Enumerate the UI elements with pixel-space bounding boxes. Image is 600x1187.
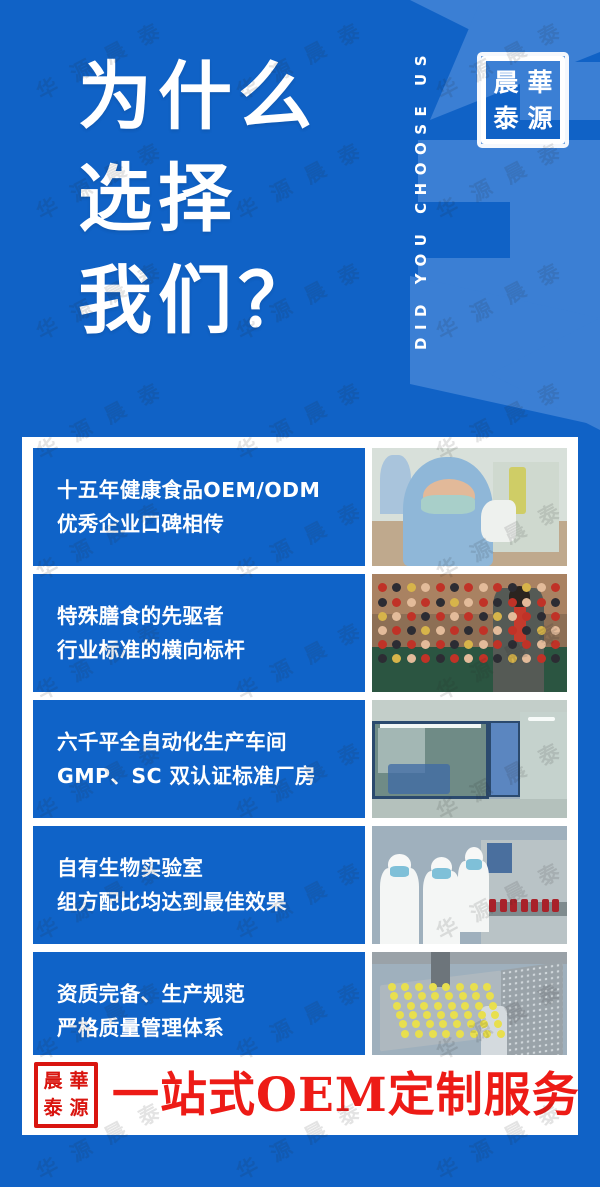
capsule	[470, 1030, 478, 1038]
bottle-cap	[552, 899, 559, 912]
audience-figure	[450, 612, 459, 621]
audience-figure	[450, 640, 459, 649]
bottle-cap	[510, 899, 517, 912]
bottle-cap	[500, 899, 507, 912]
capsule	[415, 983, 423, 991]
why-choose-us-poster: 为什么 选择 我们？ DID YOU CHOOSE US 晨 華 泰 源 十五年…	[0, 0, 600, 1187]
worker-figure	[380, 868, 419, 944]
audience-figure	[522, 598, 531, 607]
capsule	[388, 983, 396, 991]
worker-figure	[423, 871, 460, 944]
slogan-text: 一站式OEM定制服务	[112, 1072, 580, 1119]
audience-figure	[537, 583, 546, 592]
vertical-english-caption: DID YOU CHOOSE US	[400, 14, 442, 406]
worker-mask	[390, 866, 410, 877]
worker-mask	[432, 868, 451, 879]
feature-text-block: 资质完备、生产规范 严格质量管理体系	[33, 952, 365, 1070]
capsule	[456, 983, 464, 991]
audience-figure	[421, 612, 430, 621]
lab-worker-dropper-photo	[372, 448, 567, 566]
title-line-2: 选择	[78, 148, 318, 250]
feature-line-1: 资质完备、生产规范	[57, 981, 365, 1007]
audience-figure	[436, 626, 445, 635]
bottle-cap	[531, 899, 538, 912]
capsule	[418, 992, 426, 1000]
audience-figure	[436, 583, 445, 592]
audience-figure	[378, 640, 387, 649]
cleanroom-corridor-photo	[372, 700, 567, 818]
audience-figure	[378, 626, 387, 635]
feature-row: 自有生物实验室 组方配比均达到最佳效果	[33, 826, 567, 944]
capsule	[445, 992, 453, 1000]
bottom-slogan-banner: 晨 華 泰 源 一站式OEM定制服务	[22, 1055, 578, 1135]
brand-seal-logo: 晨 華 泰 源	[481, 56, 565, 144]
capsule	[399, 1020, 407, 1028]
audience-figure	[407, 612, 416, 621]
seal-char-2: 華	[523, 64, 557, 100]
feature-row: 十五年健康食品OEM/ODM 优秀企业口碑相传	[33, 448, 567, 566]
audience-figure	[479, 640, 488, 649]
feature-line-1: 六千平全自动化生产车间	[57, 729, 365, 755]
feature-line-2: 行业标准的横向标杆	[57, 637, 365, 663]
audience-figure	[508, 598, 517, 607]
vertical-english-text: DID YOU CHOOSE US	[412, 48, 430, 350]
audience-figure	[421, 598, 430, 607]
feature-line-2: 优秀企业口碑相传	[57, 511, 365, 537]
capsule	[497, 1030, 505, 1038]
audience-figure	[436, 612, 445, 621]
audience-figure	[392, 612, 401, 621]
feature-text-block: 六千平全自动化生产车间 GMP、SC 双认证标准厂房	[33, 700, 365, 818]
capsule	[470, 983, 478, 991]
blister-packaging-machine-photo	[372, 952, 567, 1070]
audience-figure	[407, 640, 416, 649]
audience-figure	[407, 654, 416, 663]
audience-figure	[479, 626, 488, 635]
capsule	[486, 992, 494, 1000]
audience-figure	[551, 612, 560, 621]
audience-figure	[537, 612, 546, 621]
red-seal-logo: 晨 華 泰 源	[34, 1062, 98, 1128]
capsule	[448, 1002, 456, 1010]
seal-char-1: 晨	[489, 64, 523, 100]
capsule	[434, 1002, 442, 1010]
audience-figure	[392, 598, 401, 607]
red-seal-char-3: 泰	[40, 1095, 66, 1122]
audience-figure	[378, 598, 387, 607]
feature-line-1: 特殊膳食的先驱者	[57, 603, 365, 629]
red-seal-char-1: 晨	[40, 1068, 66, 1095]
production-line-workers-photo	[372, 826, 567, 944]
capsule	[401, 983, 409, 991]
worker-mask	[466, 859, 482, 870]
audience-figure	[407, 598, 416, 607]
audience-figure	[522, 612, 531, 621]
capsule	[456, 1030, 464, 1038]
seal-char-3: 泰	[489, 100, 523, 136]
audience-figure	[522, 626, 531, 635]
audience-figure	[421, 626, 430, 635]
audience-figure	[551, 598, 560, 607]
page-title: 为什么 选择 我们？	[78, 46, 318, 352]
audience-figure	[407, 626, 416, 635]
capsule	[483, 1030, 491, 1038]
audience-figure	[537, 640, 546, 649]
audience-figure	[450, 598, 459, 607]
feature-text-block: 特殊膳食的先驱者 行业标准的横向标杆	[33, 574, 365, 692]
capsule	[429, 983, 437, 991]
audience-figure	[479, 598, 488, 607]
audience-figure	[450, 626, 459, 635]
capsule	[415, 1030, 423, 1038]
title-line-3: 我们？	[78, 250, 318, 352]
capsule	[464, 1011, 472, 1019]
audience-figure	[464, 598, 473, 607]
feature-row: 资质完备、生产规范 严格质量管理体系	[33, 952, 567, 1070]
capsule	[407, 1002, 415, 1010]
title-line-1: 为什么	[78, 46, 318, 148]
red-seal-char-2: 華	[66, 1068, 92, 1095]
capsule	[461, 1002, 469, 1010]
audience-figure	[537, 598, 546, 607]
worker-figure	[458, 861, 489, 932]
audience-figure	[493, 598, 502, 607]
audience-figure	[436, 640, 445, 649]
capsule	[483, 983, 491, 991]
bottle-cap	[521, 899, 528, 912]
feature-row: 六千平全自动化生产车间 GMP、SC 双认证标准厂房	[33, 700, 567, 818]
audience-figure	[436, 654, 445, 663]
red-seal-char-4: 源	[66, 1095, 92, 1122]
audience-figure	[508, 654, 517, 663]
capsule	[489, 1002, 497, 1010]
capsule	[437, 1011, 445, 1019]
audience-figure	[436, 598, 445, 607]
audience-figure	[508, 640, 517, 649]
audience-figure	[479, 612, 488, 621]
capsule	[459, 992, 467, 1000]
feature-line-2: GMP、SC 双认证标准厂房	[57, 763, 365, 789]
capsule	[429, 1030, 437, 1038]
audience-figure	[551, 626, 560, 635]
feature-line-2: 严格质量管理体系	[57, 1015, 365, 1041]
feature-text-block: 自有生物实验室 组方配比均达到最佳效果	[33, 826, 365, 944]
feature-line-1: 自有生物实验室	[57, 855, 365, 881]
audience-figure	[537, 654, 546, 663]
audience-figure	[537, 626, 546, 635]
capsule	[475, 1002, 483, 1010]
audience-figure	[378, 612, 387, 621]
capsule	[393, 1002, 401, 1010]
feature-line-2: 组方配比均达到最佳效果	[57, 889, 365, 915]
feature-line-1: 十五年健康食品OEM/ODM	[57, 477, 365, 503]
bottle-cap	[489, 899, 496, 912]
capsule	[420, 1002, 428, 1010]
audience-figure	[551, 640, 560, 649]
feature-text-block: 十五年健康食品OEM/ODM 优秀企业口碑相传	[33, 448, 365, 566]
feature-row: 特殊膳食的先驱者 行业标准的横向标杆	[33, 574, 567, 692]
bottle-cap	[542, 899, 549, 912]
capsule	[442, 983, 450, 991]
feature-list-panel: 十五年健康食品OEM/ODM 优秀企业口碑相传 特殊膳食的先驱者 行业标准的横向…	[22, 437, 578, 1135]
audience-figure	[508, 626, 517, 635]
audience-figure	[508, 612, 517, 621]
audience-figure	[493, 612, 502, 621]
capsule	[396, 1011, 404, 1019]
capsule	[478, 1011, 486, 1019]
conference-audience-photo	[372, 574, 567, 692]
seal-char-4: 源	[523, 100, 557, 136]
